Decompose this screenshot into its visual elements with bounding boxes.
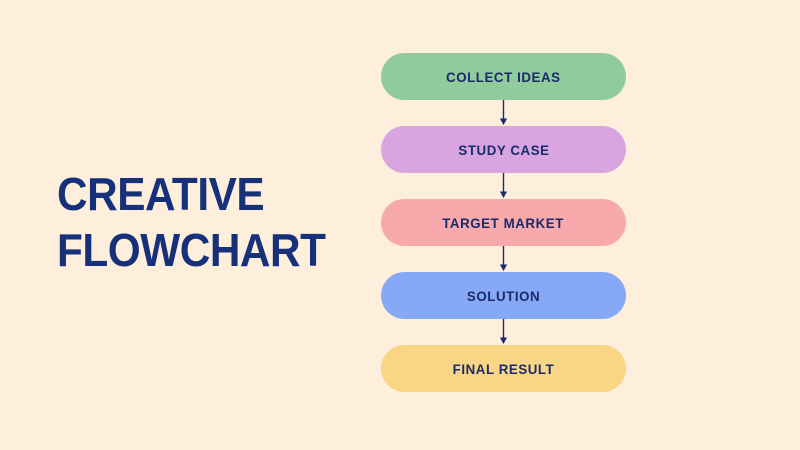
page-title-line-1: CREATIVE	[57, 166, 333, 222]
flow-node-solution[interactable]: SOLUTION	[381, 272, 626, 319]
arrow-down-icon	[499, 100, 508, 126]
flow-step: SOLUTION	[381, 272, 626, 319]
flow-node-target-market[interactable]: TARGET MARKET	[381, 199, 626, 246]
flow-step: COLLECT IDEAS	[381, 53, 626, 100]
flow-connector-2	[381, 173, 626, 199]
flow-node-label: TARGET MARKET	[443, 215, 565, 231]
flow-node-label: FINAL RESULT	[453, 361, 555, 377]
page-title: CREATIVE FLOWCHART	[57, 166, 357, 278]
flow-connector-4	[381, 319, 626, 345]
flow-node-study-case[interactable]: STUDY CASE	[381, 126, 626, 173]
slide-canvas: CREATIVE FLOWCHART COLLECT IDEAS STUDY C…	[0, 0, 800, 450]
flow-node-final-result[interactable]: FINAL RESULT	[381, 345, 626, 392]
arrow-down-icon	[499, 319, 508, 345]
flow-step: FINAL RESULT	[381, 345, 626, 392]
flow-node-label: STUDY CASE	[458, 142, 549, 158]
flowchart: COLLECT IDEAS STUDY CASE TARGET MARKET	[381, 53, 626, 392]
flow-node-collect-ideas[interactable]: COLLECT IDEAS	[381, 53, 626, 100]
flow-step: TARGET MARKET	[381, 199, 626, 246]
flow-connector-3	[381, 246, 626, 272]
flow-node-label: SOLUTION	[467, 288, 540, 304]
flow-step: STUDY CASE	[381, 126, 626, 173]
arrow-down-icon	[499, 246, 508, 272]
flow-node-label: COLLECT IDEAS	[446, 69, 561, 85]
page-title-line-2: FLOWCHART	[57, 222, 333, 278]
arrow-down-icon	[499, 173, 508, 199]
flow-connector-1	[381, 100, 626, 126]
